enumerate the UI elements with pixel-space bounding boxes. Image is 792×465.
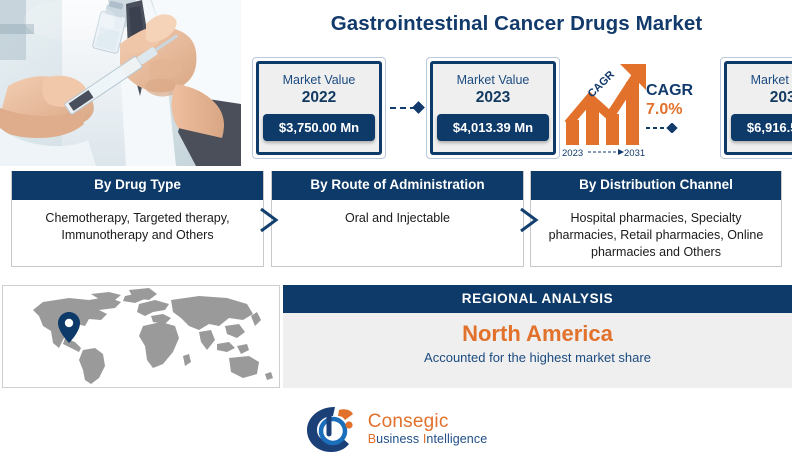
cagr-chart-label: CAGR	[586, 68, 617, 99]
regional-section: REGIONAL ANALYSIS North America Accounte…	[0, 285, 792, 390]
regional-analysis-heading: REGIONAL ANALYSIS	[283, 285, 792, 313]
segment-title: By Drug Type	[12, 171, 263, 200]
cagr-bar-chart-icon: CAGR 2023 2031	[562, 58, 654, 158]
market-value-label: Market Value	[437, 73, 549, 88]
segment-title: By Distribution Channel	[531, 171, 781, 200]
top-region-name: North America	[283, 321, 792, 347]
cagr-word: CAGR	[646, 82, 693, 100]
logo-tagline: Business Intelligence	[368, 432, 488, 447]
header-section: Gastrointestinal Cancer Drugs Market Mar…	[0, 0, 792, 168]
logo-tagline-usiness: usiness	[376, 432, 423, 446]
segment-body: Oral and Injectable	[272, 200, 523, 227]
hero-photo	[0, 0, 241, 166]
segment-body: Chemotherapy, Targeted therapy, Immunoth…	[12, 200, 263, 244]
market-value-amount: $4,013.39 Mn	[437, 114, 549, 141]
segment-title: By Route of Administration	[272, 171, 523, 200]
market-value-card-2023: Market Value 2023 $4,013.39 Mn	[426, 57, 560, 159]
consegic-logo-mark-icon	[305, 404, 359, 454]
segment-body: Hospital pharmacies, Specialty pharmacie…	[531, 200, 781, 261]
title-bar: Gastrointestinal Cancer Drugs Market	[241, 0, 792, 47]
market-value-label: Market Value	[263, 73, 375, 88]
page-title: Gastrointestinal Cancer Drugs Market	[331, 12, 703, 36]
cagr-start-year: 2023	[562, 148, 583, 158]
cagr-end-year: 2031	[624, 148, 645, 158]
market-value-amount: $3,750.00 Mn	[263, 114, 375, 141]
market-value-card-2031: Market Value 2031 $6,916.52 Mn	[720, 57, 792, 159]
market-value-row: Market Value 2022 $3,750.00 Mn Market Va…	[241, 47, 792, 168]
segment-card-route: By Route of Administration Oral and Inje…	[271, 171, 524, 267]
cagr-graphic: CAGR 2023 2031 CAGR 7.0%	[560, 54, 720, 162]
market-value-amount: $6,916.52 Mn	[731, 114, 792, 141]
brand-footer: Consegic Business Intelligence	[0, 392, 792, 465]
cagr-dashed-arrow-icon	[646, 123, 680, 133]
cagr-percent: 7.0%	[646, 100, 693, 120]
diamond-marker-icon	[412, 101, 425, 114]
logo[interactable]: Consegic Business Intelligence	[305, 404, 488, 454]
logo-tagline-ntelligence: ntelligence	[426, 432, 487, 446]
regional-analysis-panel: REGIONAL ANALYSIS North America Accounte…	[283, 285, 792, 388]
chevron-right-icon	[258, 207, 280, 233]
segment-card-distribution: By Distribution Channel Hospital pharmac…	[530, 171, 782, 267]
market-value-year: 2022	[263, 88, 375, 107]
market-value-card-2022: Market Value 2022 $3,750.00 Mn	[252, 57, 386, 159]
market-value-year: 2031	[731, 88, 792, 107]
world-map-icon	[3, 286, 279, 387]
doctor-syringe-illustration	[0, 0, 241, 166]
top-region-note: Accounted for the highest market share	[283, 349, 792, 366]
segment-card-drug-type: By Drug Type Chemotherapy, Targeted ther…	[11, 171, 264, 267]
cagr-value-block: CAGR 7.0%	[646, 82, 693, 138]
logo-text: Consegic Business Intelligence	[368, 411, 488, 447]
logo-tagline-b: B	[368, 432, 376, 446]
dashed-arrow-connector	[386, 103, 426, 113]
market-value-label: Market Value	[731, 73, 792, 88]
world-map-panel	[2, 285, 280, 388]
market-value-year: 2023	[437, 88, 549, 107]
segmentation-section: By Drug Type Chemotherapy, Targeted ther…	[0, 171, 792, 276]
logo-brand-name: Consegic	[368, 411, 488, 432]
chevron-right-icon	[518, 207, 540, 233]
